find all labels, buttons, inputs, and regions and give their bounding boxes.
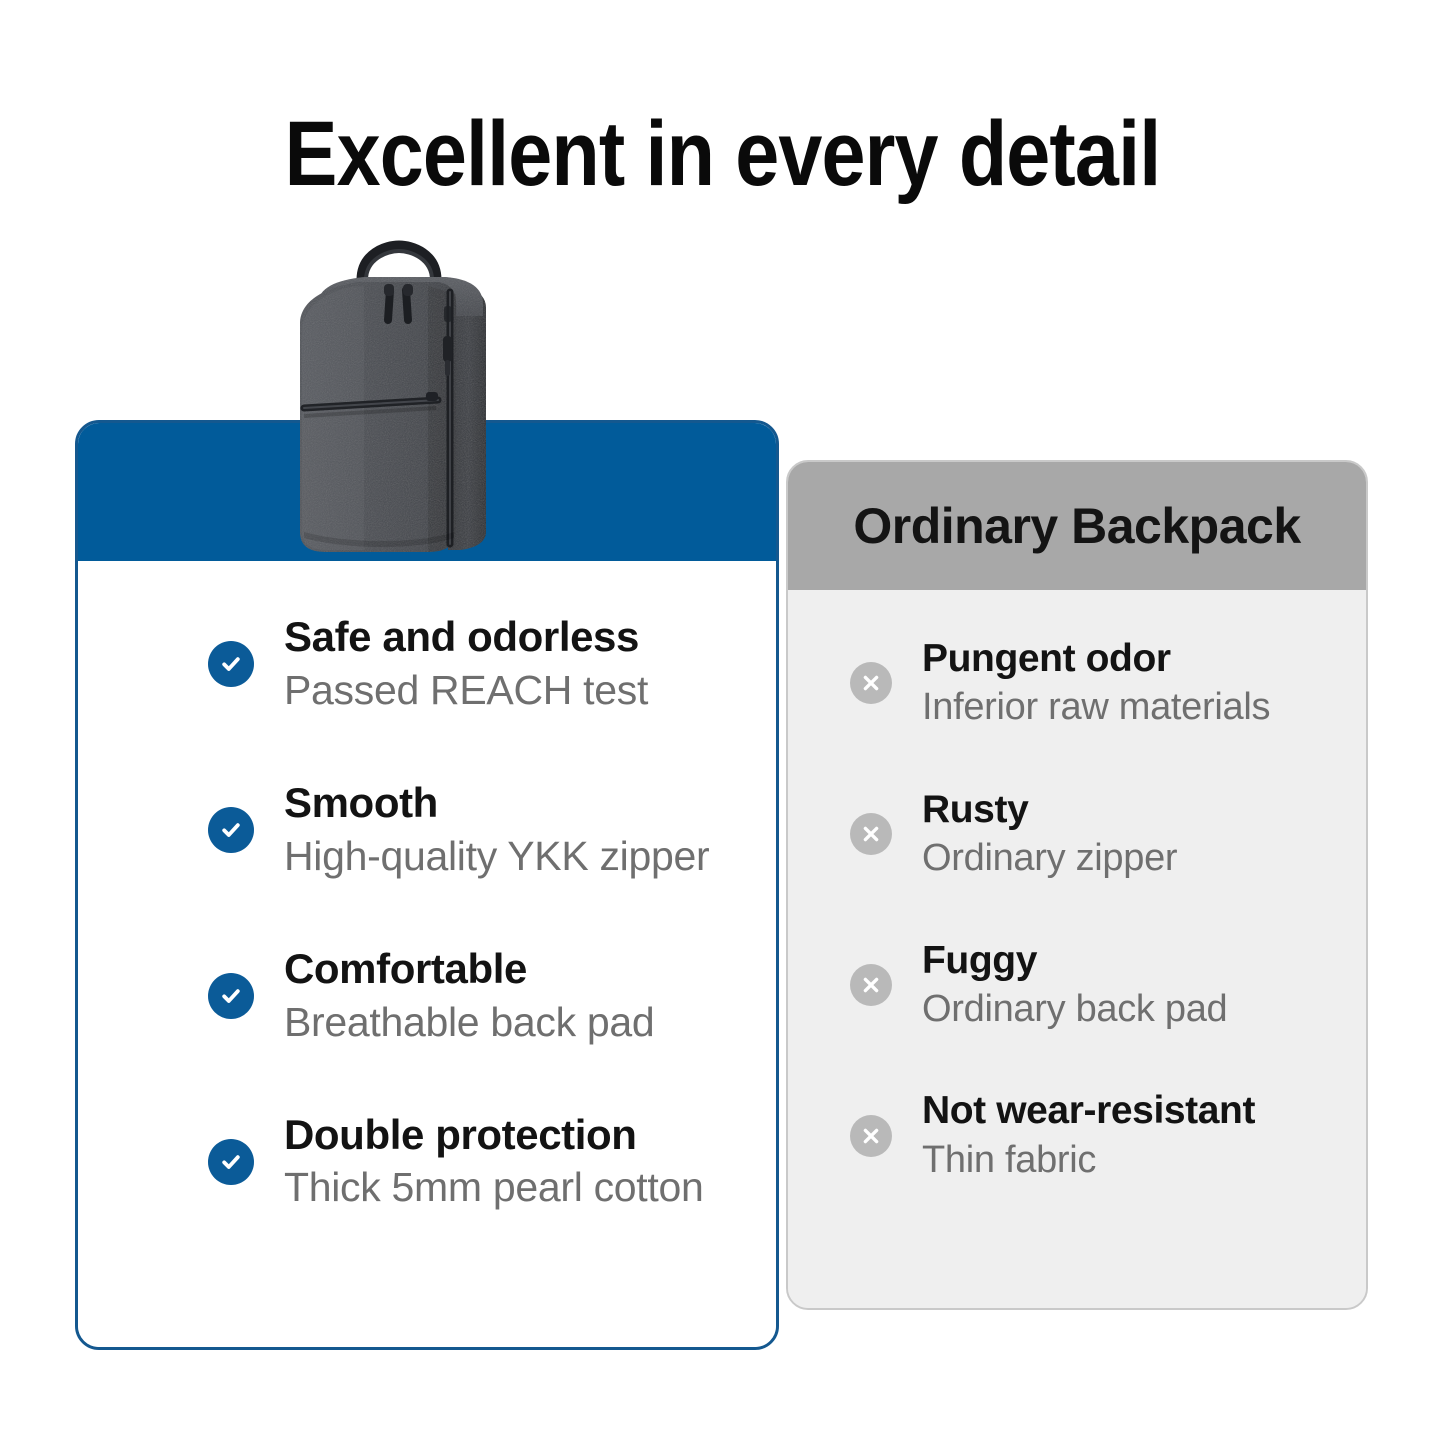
cross-circle-icon	[850, 1115, 892, 1157]
list-item-text: Smooth High-quality YKK zipper	[284, 779, 709, 881]
list-item-text: Double protection Thick 5mm pearl cotton	[284, 1111, 704, 1213]
product-card: Safe and odorless Passed REACH test Smoo…	[75, 420, 779, 1350]
list-item: Rusty Ordinary zipper	[850, 787, 1346, 882]
product-card-header	[78, 423, 776, 561]
cross-circle-icon	[850, 964, 892, 1006]
ordinary-card-title: Ordinary Backpack	[853, 497, 1300, 555]
list-item-text: Fuggy Ordinary back pad	[922, 938, 1227, 1033]
list-item-text: Safe and odorless Passed REACH test	[284, 613, 648, 715]
list-item-text: Rusty Ordinary zipper	[922, 787, 1177, 882]
list-item: Comfortable Breathable back pad	[112, 945, 742, 1047]
check-circle-icon	[208, 807, 254, 853]
list-item-subtitle: Thin fabric	[922, 1138, 1255, 1184]
list-item: Safe and odorless Passed REACH test	[112, 613, 742, 715]
list-item: Pungent odor Inferior raw materials	[850, 636, 1346, 731]
list-item-subtitle: High-quality YKK zipper	[284, 832, 709, 881]
list-item-text: Comfortable Breathable back pad	[284, 945, 654, 1047]
list-item: Not wear-resistant Thin fabric	[850, 1088, 1346, 1183]
check-circle-icon	[208, 973, 254, 1019]
list-item: Fuggy Ordinary back pad	[850, 938, 1346, 1033]
cross-circle-icon	[850, 662, 892, 704]
list-item-text: Pungent odor Inferior raw materials	[922, 636, 1270, 731]
list-item-title: Not wear-resistant	[922, 1088, 1255, 1133]
list-item-subtitle: Ordinary back pad	[922, 987, 1227, 1033]
list-item: Double protection Thick 5mm pearl cotton	[112, 1111, 742, 1213]
list-item-title: Double protection	[284, 1111, 704, 1160]
list-item: Smooth High-quality YKK zipper	[112, 779, 742, 881]
list-item-title: Smooth	[284, 779, 709, 828]
cross-circle-icon	[850, 813, 892, 855]
list-item-subtitle: Inferior raw materials	[922, 685, 1270, 731]
list-item-text: Not wear-resistant Thin fabric	[922, 1088, 1255, 1183]
list-item-subtitle: Breathable back pad	[284, 998, 654, 1047]
list-item-title: Fuggy	[922, 938, 1227, 983]
list-item-title: Safe and odorless	[284, 613, 648, 662]
list-item-subtitle: Ordinary zipper	[922, 836, 1177, 882]
list-item-title: Comfortable	[284, 945, 654, 994]
list-item-subtitle: Passed REACH test	[284, 666, 648, 715]
list-item-title: Rusty	[922, 787, 1177, 832]
page-title: Excellent in every detail	[101, 108, 1344, 202]
ordinary-backpack-card: Ordinary Backpack Pungent odor Inferior …	[786, 460, 1368, 1310]
list-item-title: Pungent odor	[922, 636, 1270, 681]
list-item-subtitle: Thick 5mm pearl cotton	[284, 1163, 704, 1212]
ordinary-card-body: Pungent odor Inferior raw materials Rust…	[788, 590, 1366, 1308]
check-circle-icon	[208, 1139, 254, 1185]
check-circle-icon	[208, 641, 254, 687]
ordinary-card-header: Ordinary Backpack	[788, 462, 1366, 590]
product-card-body: Safe and odorless Passed REACH test Smoo…	[78, 561, 776, 1347]
